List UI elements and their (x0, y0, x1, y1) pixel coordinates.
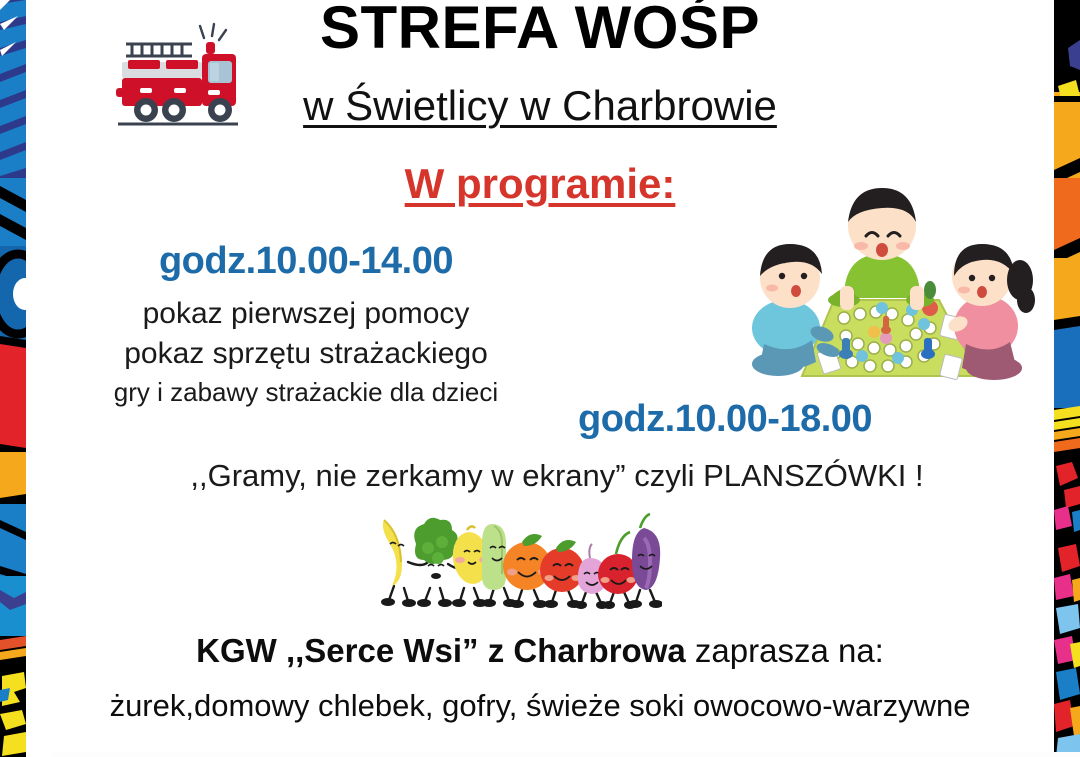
fire-truck-icon (104, 18, 248, 136)
left-border-pattern-icon (0, 0, 26, 757)
schedule-right-time: godz.10.00-18.00 (578, 398, 978, 442)
fire-truck-graphic (104, 18, 248, 136)
organizer-name: KGW ,,Serce Wsi” z Charbrowa (196, 632, 686, 669)
children-board-game-icon (734, 158, 1040, 394)
board-games-quote: ,,Gramy, nie zerkamy w ekrany” czyli PLA… (52, 458, 1062, 494)
organizer-line: KGW ,,Serce Wsi” z Charbrowa zaprasza na… (26, 632, 1054, 670)
poster-canvas: STREFA WOŚP w Świetlicy w Charbrowie W p… (0, 0, 1080, 757)
board-game-graphic (734, 158, 1040, 394)
schedule-left-time: godz.10.00-14.00 (66, 240, 546, 284)
poster-content: STREFA WOŚP w Świetlicy w Charbrowie W p… (26, 0, 1054, 757)
right-border-pattern-icon (1054, 0, 1080, 757)
left-decorative-border (0, 0, 26, 757)
fruits-vegetables-icon (372, 508, 662, 620)
organizer-invite: zaprasza na: (686, 632, 884, 669)
schedule-left-activity-1: pokaz pierwszej pomocy (66, 294, 546, 335)
schedule-right-block: godz.10.00-18.00 (578, 398, 978, 442)
fruits-vegetables-graphic (372, 508, 662, 620)
schedule-left-activity-3: gry i zabawy strażackie dla dzieci (66, 375, 546, 410)
food-menu-line: żurek,domowy chlebek, gofry, świeże soki… (26, 688, 1054, 724)
bottom-edge-cut (52, 752, 1080, 757)
schedule-left-activity-2: pokaz sprzętu strażackiego (66, 334, 546, 375)
right-decorative-border (1054, 0, 1080, 757)
schedule-left-block: godz.10.00-14.00 pokaz pierwszej pomocy … (66, 240, 546, 410)
